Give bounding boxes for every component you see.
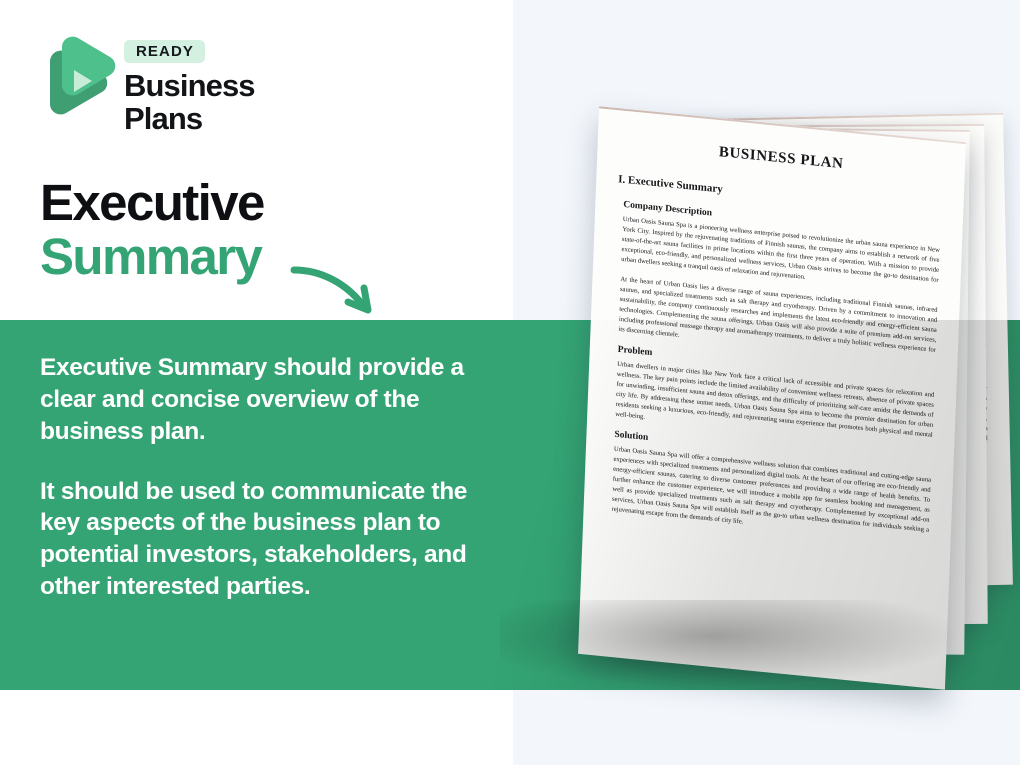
brand-logo: READY Business Plans — [40, 36, 330, 120]
document-page-front: BUSINESS PLAN I. Executive Summary Compa… — [578, 106, 966, 690]
ready-badge: READY — [124, 40, 205, 63]
body-copy: Executive Summary should provide a clear… — [40, 352, 490, 603]
brand-name: Business Plans — [124, 70, 330, 135]
page-title-line-1: Executive — [40, 176, 470, 230]
body-paragraph-1: Executive Summary should provide a clear… — [40, 352, 490, 448]
brand-logo-text: READY Business Plans — [124, 40, 330, 135]
page-title: Executive Summary — [40, 176, 470, 284]
double-play-triangle-logo-icon — [40, 36, 116, 116]
page-title-line-2: Summary — [40, 230, 470, 284]
document-stack: BUSINESS PLAN I. Executive Summary Compa… — [470, 80, 1020, 700]
doc-title: BUSINESS PLAN — [619, 134, 943, 183]
body-paragraph-2: It should be used to communicate the key… — [40, 476, 490, 603]
